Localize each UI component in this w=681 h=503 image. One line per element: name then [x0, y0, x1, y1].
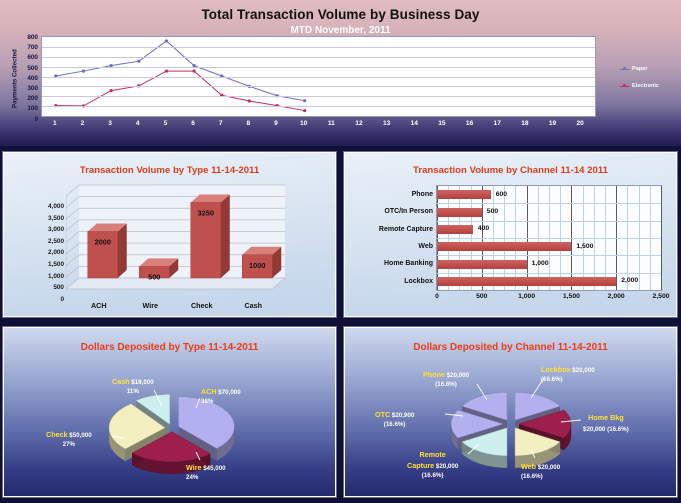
x-tick: 1,000 — [518, 293, 535, 300]
pie-label-value: $45,000 — [202, 465, 226, 472]
y-tick: 1,500 — [48, 261, 64, 268]
x-tick: 13 — [383, 120, 390, 127]
column-chart-panel: Transaction Volume by Type 11-14-2011 4,… — [3, 152, 336, 317]
bar-remote-capture — [437, 225, 473, 234]
y-tick: 500 — [53, 284, 64, 291]
category-label: Web — [351, 243, 433, 251]
hbar-chart-title: Transaction Volume by Channel 11-14 2011 — [345, 165, 676, 176]
category-label: OTC/In Person — [351, 208, 433, 216]
gridline — [42, 106, 595, 107]
pie-label-name: Home Bkg — [583, 413, 629, 422]
gridline — [437, 221, 661, 222]
x-tick: 3 — [108, 120, 112, 127]
dashboard-title: Total Transaction Volume by Business Day — [0, 7, 681, 22]
x-tick: 2,500 — [652, 293, 669, 300]
pie-type-svg — [4, 328, 337, 498]
pie-label-lockbox: Lockbox $20,000(16.6%) — [541, 363, 595, 384]
pie-label-name: Lockbox — [541, 365, 571, 374]
y-tick: 4,000 — [48, 203, 64, 210]
line-chart-legend: PaperElectronic — [620, 66, 680, 100]
y-tick: 600 — [27, 54, 38, 61]
x-tick: 14 — [411, 120, 418, 127]
pie-label-name-2: Capture — [407, 461, 434, 470]
bar-phone — [437, 190, 491, 199]
legend-label: Paper — [632, 66, 648, 72]
x-tick: 4 — [136, 120, 140, 127]
pie-label-name: Check — [46, 430, 68, 439]
legend-line-icon — [620, 69, 629, 70]
y-tick: 3,000 — [48, 226, 64, 233]
y-tick: 2,000 — [48, 249, 64, 256]
pie-label-remote: RemoteCapture $20,000(16.6%) — [407, 450, 458, 480]
bar-value-label: 1,000 — [532, 260, 549, 267]
gridline — [42, 77, 595, 78]
bar-web — [437, 242, 571, 251]
y-tick: 300 — [27, 85, 38, 92]
gridline — [42, 86, 595, 87]
y-tick: 400 — [27, 75, 38, 82]
column-chart-svg: 200050032501000 — [66, 183, 314, 298]
pie-label-percent: (16.6%) — [407, 471, 458, 480]
pie-label-value: $19,000 — [130, 379, 154, 386]
x-tick: 11 — [328, 120, 335, 127]
y-tick: 0 — [60, 296, 64, 303]
x-tick: 12 — [355, 120, 362, 127]
x-tick: 500 — [476, 293, 487, 300]
bar-value-label: 2,000 — [621, 277, 638, 284]
hbar-chart-category-labels: PhoneOTC/In PersonRemote CaptureWebHome … — [351, 187, 433, 289]
line-chart-x-ticks: 1234567891011121314151617181920 — [41, 120, 596, 134]
y-tick: 1,000 — [48, 273, 64, 280]
hbar-chart-plot-area: 6005004001,5001,0002,000 — [436, 185, 662, 291]
pie-label-ach: ACH $70,00038% — [201, 385, 241, 406]
y-tick: 0 — [34, 116, 38, 123]
category-label: Home Banking — [351, 260, 433, 268]
x-tick: 0 — [435, 293, 439, 300]
legend-item-electronic: Electronic — [620, 83, 680, 89]
pie-type-panel: Dollars Deposited by Type 11-14-2011 Cas… — [3, 327, 336, 497]
pie-label-wire: Wire $45,00024% — [186, 461, 226, 482]
pie-label-name: Cash — [112, 377, 130, 386]
dashboard-subtitle: MTD November, 2011 — [0, 25, 681, 36]
pie-label-percent: (16.6%) — [375, 420, 414, 429]
bar-value-label: 400 — [478, 225, 489, 232]
pie-label-phone: Phone $20,000(16.6%) — [423, 368, 469, 389]
pie-label-name: Web — [521, 462, 536, 471]
bar-home-banking — [437, 260, 527, 269]
bar-value-label: 1,500 — [576, 243, 593, 250]
gridline — [661, 186, 662, 290]
hbar-chart-panel: Transaction Volume by Channel 11-14 2011… — [344, 152, 677, 317]
bar-value-label: 3250 — [198, 208, 214, 217]
bar-value-label: 600 — [496, 191, 507, 198]
pie-label-percent: 38% — [201, 397, 241, 406]
category-label: Lockbox — [351, 278, 433, 286]
pie-label-name: Phone — [423, 370, 445, 379]
x-tick: 2,000 — [608, 293, 625, 300]
pie-label-value: $20,000 — [571, 367, 595, 374]
legend-label: Electronic — [632, 83, 659, 89]
y-tick: 3,500 — [48, 215, 64, 222]
bar-otc-in-person — [437, 208, 482, 217]
x-tick: 15 — [438, 120, 445, 127]
x-tick: 9 — [274, 120, 278, 127]
x-tick: 5 — [164, 120, 168, 127]
pie-label-percent: 27% — [46, 440, 92, 449]
bar-value-label: 1000 — [249, 261, 265, 270]
gridline — [437, 238, 661, 239]
pie-label-percent: (16.6%) — [541, 375, 595, 384]
pie-label-value: $70,000 — [217, 389, 241, 396]
pie-label-value: $20,900 — [390, 412, 414, 419]
x-tick: 1 — [53, 120, 57, 127]
line-chart-plot-area — [41, 36, 596, 117]
dashboard-root: Total Transaction Volume by Business Day… — [0, 0, 681, 500]
gridline — [437, 203, 661, 204]
y-tick: 800 — [27, 34, 38, 41]
x-tick: 17 — [494, 120, 501, 127]
pie-channel-panel: Dollars Deposited by Channel 11-14-2011 … — [344, 327, 677, 497]
x-tick: 8 — [247, 120, 251, 127]
line-chart-panel: Total Transaction Volume by Business Day… — [0, 0, 681, 146]
pie-label-value: $20,000 — [536, 464, 560, 471]
gridline — [42, 47, 595, 48]
x-tick: 6 — [191, 120, 195, 127]
x-tick: 18 — [521, 120, 528, 127]
x-tick: 1,500 — [563, 293, 580, 300]
x-tick: 2 — [81, 120, 85, 127]
x-tick: 7 — [219, 120, 223, 127]
bar-lockbox — [437, 277, 616, 286]
x-tick: 16 — [466, 120, 473, 127]
pie-label-value: $20,000 — [445, 372, 469, 379]
gridline — [42, 96, 595, 97]
x-tick: 20 — [577, 120, 584, 127]
pie-label-value: $20,000 (16.6%) — [583, 426, 629, 433]
pie-label-percent: 11% — [112, 387, 154, 396]
pie-label-cash: Cash $19,00011% — [112, 375, 154, 396]
y-tick: 700 — [27, 44, 38, 51]
column-chart-category-labels: ACHWireCheckCash — [66, 301, 314, 313]
pie-label-percent: (16.6%) — [521, 472, 560, 481]
column-chart-y-ticks: 4,0003,5003,0002,5002,0001,5001,0005000 — [22, 193, 64, 299]
pie-label-value: $20,000 — [434, 463, 458, 470]
y-tick: 100 — [27, 105, 38, 112]
x-tick: 19 — [549, 120, 556, 127]
pie-label-name: Wire — [186, 463, 202, 472]
pie-label-otc: OTC $20,900(16.6%) — [375, 408, 414, 429]
category-label: Phone — [351, 191, 433, 199]
pie-label-percent: 24% — [186, 473, 226, 482]
y-tick: 500 — [27, 65, 38, 72]
bar-value-label: 500 — [487, 208, 498, 215]
category-label-cash: Cash — [223, 301, 283, 310]
pie-channel-stage: Lockbox $20,000(16.6%)Home Bkg$20,000 (1… — [345, 328, 676, 496]
legend-item-paper: Paper — [620, 66, 680, 72]
y-tick: 200 — [27, 95, 38, 102]
column-chart-plot-area: 200050032501000 — [66, 183, 314, 298]
pie-label-percent: (16.6%) — [423, 380, 469, 389]
gridline — [437, 255, 661, 256]
pie-label-web: Web $20,000(16.6%) — [521, 460, 560, 481]
pie-label-name: Remote — [407, 450, 458, 459]
pie-label-value: $50,000 — [68, 432, 92, 439]
bar-value-label: 2000 — [95, 238, 111, 247]
legend-line-icon — [620, 86, 629, 87]
line-chart-y-ticks: 8007006005004003002001000 — [19, 34, 38, 120]
category-label: Remote Capture — [351, 226, 433, 234]
gridline — [42, 67, 595, 68]
y-tick: 2,500 — [48, 238, 64, 245]
column-chart-title: Transaction Volume by Type 11-14-2011 — [4, 165, 335, 176]
pie-type-stage: Cash $19,00011%ACH $70,00038%Check $50,0… — [4, 328, 335, 496]
pie-label-check: Check $50,00027% — [46, 428, 92, 449]
hbar-chart-x-ticks: 05001,0001,5002,0002,500 — [436, 293, 662, 305]
bar-value-label: 500 — [148, 272, 160, 281]
x-tick: 10 — [300, 120, 307, 127]
gridline — [437, 273, 661, 274]
pie-label-home-bkg: Home Bkg$20,000 (16.6%) — [583, 413, 629, 434]
gridline — [42, 57, 595, 58]
pie-label-name: OTC — [375, 410, 390, 419]
pie-label-name: ACH — [201, 387, 217, 396]
